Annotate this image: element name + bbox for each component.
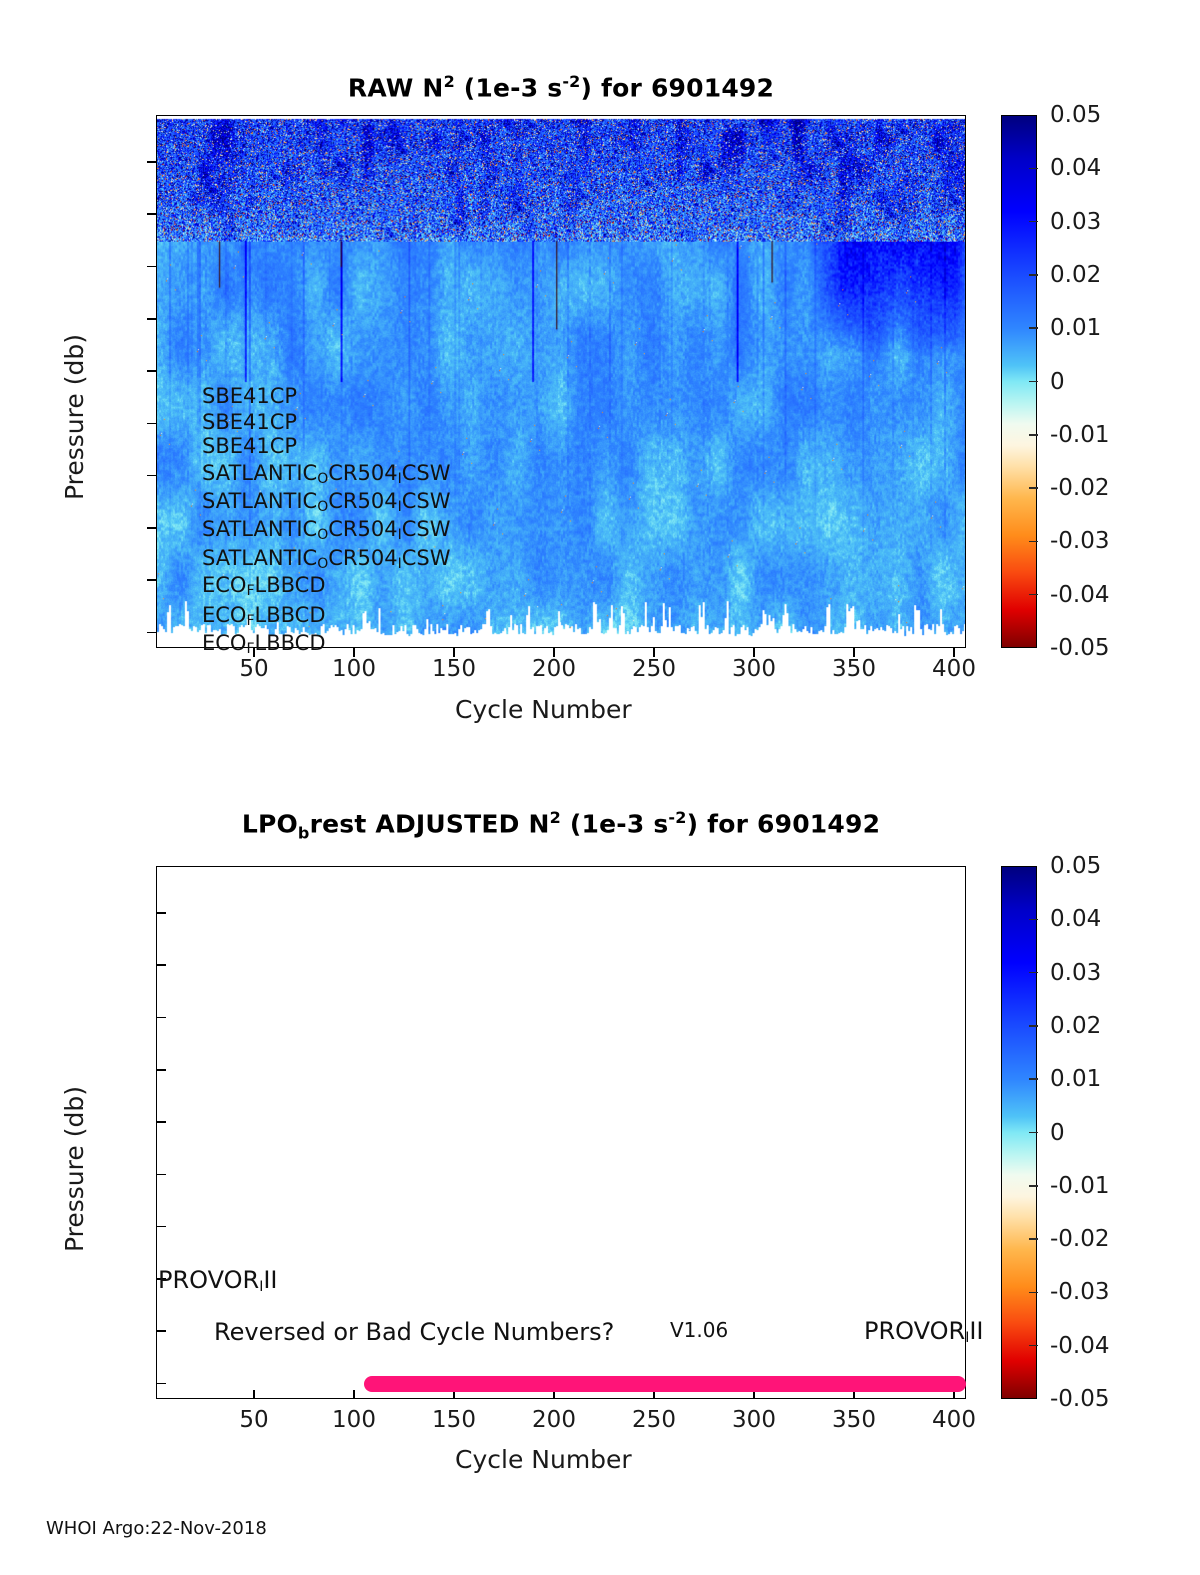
colorbar-tick-label: 0.01 <box>1050 1066 1101 1092</box>
ytick-mark <box>147 632 156 634</box>
colorbar-tick-mark <box>1029 1132 1038 1134</box>
panel1-ylabel: Pressure (db) <box>60 334 89 500</box>
xtick-label: 400 <box>932 1407 976 1433</box>
ytick-mark <box>147 266 156 268</box>
xtick-mark <box>553 648 555 657</box>
xtick-label: 50 <box>239 656 268 682</box>
colorbar-tick-label: 0 <box>1050 1120 1065 1146</box>
xtick-mark <box>953 648 955 657</box>
colorbar-tick-mark <box>1029 972 1038 974</box>
plot-annotation: SATLANTICOCR504ICSW <box>202 546 451 572</box>
plot-annotation: Reversed or Bad Cycle Numbers? <box>214 1318 614 1346</box>
colorbar-tick-label: -0.01 <box>1050 422 1110 448</box>
xtick-label: 250 <box>632 1407 676 1433</box>
xtick-label: 350 <box>832 656 876 682</box>
ytick-mark <box>157 964 166 966</box>
xtick-label: 300 <box>732 656 776 682</box>
xtick-label: 300 <box>732 1407 776 1433</box>
plot-annotation: SBE41CP <box>202 410 297 434</box>
colorbar-tick-label: -0.04 <box>1050 1333 1110 1359</box>
xtick-mark <box>353 1390 355 1399</box>
ytick-mark <box>147 423 156 425</box>
colorbar-tick-label: 0.01 <box>1050 315 1101 341</box>
colorbar-tick-label: -0.05 <box>1050 1386 1110 1412</box>
ytick-mark <box>157 1069 166 1071</box>
plot-annotation: SBE41CP <box>202 434 297 458</box>
xtick-mark <box>653 648 655 657</box>
colorbar-tick-label: 0.04 <box>1050 155 1101 181</box>
xtick-label: 150 <box>432 1407 476 1433</box>
xtick-label: 350 <box>832 1407 876 1433</box>
plot-annotation: V1.06 <box>670 1318 728 1342</box>
colorbar-tick-mark <box>1029 327 1038 329</box>
colorbar-tick-label: 0.03 <box>1050 209 1101 235</box>
panel2-ylabel: Pressure (db) <box>60 1086 89 1252</box>
xtick-label: 200 <box>532 656 576 682</box>
colorbar-tick-label: 0.02 <box>1050 262 1101 288</box>
xtick-label: 250 <box>632 656 676 682</box>
xtick-label: 200 <box>532 1407 576 1433</box>
xtick-mark <box>453 648 455 657</box>
colorbar-tick-mark <box>1029 1292 1038 1294</box>
ytick-mark <box>147 579 156 581</box>
ytick-mark <box>157 1383 166 1385</box>
xtick-label: 100 <box>332 656 376 682</box>
panel2-xlabel: Cycle Number <box>455 1445 632 1474</box>
plot-annotation: SATLANTICOCR504ICSW <box>202 489 451 515</box>
colorbar-tick-mark <box>1029 221 1038 223</box>
colorbar-tick-label: 0.05 <box>1050 853 1101 879</box>
colorbar-tick-label: 0.03 <box>1050 960 1101 986</box>
plot-annotation: ECOFLBBCD <box>202 573 326 599</box>
colorbar-tick-mark <box>1029 1345 1038 1347</box>
colorbar-tick-label: 0.04 <box>1050 906 1101 932</box>
ytick-mark <box>147 318 156 320</box>
colorbar-tick-label: -0.02 <box>1050 1226 1110 1252</box>
colorbar-tick-label: 0 <box>1050 369 1065 395</box>
colorbar-tick-mark <box>1029 434 1038 436</box>
colorbar-tick-mark <box>1029 274 1038 276</box>
ytick-mark <box>157 1174 166 1176</box>
panel1-xlabel: Cycle Number <box>455 695 632 724</box>
colorbar-tick-mark <box>1029 1078 1038 1080</box>
bad-cycle-marker-band <box>364 1376 966 1392</box>
panel2-title: LPObrest ADJUSTED N2 (1e-3 s-2) for 6901… <box>156 808 966 842</box>
xtick-label: 400 <box>932 656 976 682</box>
colorbar-tick-mark <box>1029 487 1038 489</box>
plot-annotation: SATLANTICOCR504ICSW <box>202 461 451 487</box>
plot-annotation: PROVORIII <box>864 1317 983 1346</box>
ytick-mark <box>147 475 156 477</box>
colorbar-tick-label: -0.01 <box>1050 1173 1110 1199</box>
colorbar-tick-mark <box>1029 919 1038 921</box>
xtick-mark <box>853 648 855 657</box>
ytick-mark <box>157 1121 166 1123</box>
ytick-mark <box>157 912 166 914</box>
colorbar-tick-mark <box>1029 1185 1038 1187</box>
xtick-mark <box>353 648 355 657</box>
colorbar-tick-label: -0.04 <box>1050 582 1110 608</box>
xtick-mark <box>753 648 755 657</box>
colorbar-tick-mark <box>1029 541 1038 543</box>
plot-annotation: PROVORIII <box>158 1266 277 1295</box>
xtick-label: 50 <box>239 1407 268 1433</box>
ytick-mark <box>147 213 156 215</box>
ytick-mark <box>157 1226 166 1228</box>
ytick-mark <box>157 1017 166 1019</box>
figure-footer: WHOI Argo:22-Nov-2018 <box>46 1518 267 1539</box>
plot-annotation: SBE41CP <box>202 384 297 408</box>
ytick-mark <box>157 1330 166 1332</box>
panel1-title: RAW N2 (1e-3 s-2) for 6901492 <box>156 72 966 102</box>
xtick-label: 100 <box>332 1407 376 1433</box>
colorbar-tick-mark <box>1029 1238 1038 1240</box>
colorbar-tick-label: 0.05 <box>1050 102 1101 128</box>
colorbar-tick-mark <box>1029 168 1038 170</box>
colorbar-tick-mark <box>1029 1025 1038 1027</box>
xtick-label: 150 <box>432 656 476 682</box>
colorbar-tick-mark <box>1029 381 1038 383</box>
colorbar-tick-label: -0.02 <box>1050 475 1110 501</box>
plot-annotation: SATLANTICOCR504ICSW <box>202 517 451 543</box>
colorbar-tick-label: 0.02 <box>1050 1013 1101 1039</box>
ytick-mark <box>147 527 156 529</box>
ytick-mark <box>147 370 156 372</box>
colorbar-tick-label: -0.05 <box>1050 635 1110 661</box>
plot-annotation: ECOFLBBCD <box>202 603 326 629</box>
colorbar-tick-mark <box>1029 594 1038 596</box>
xtick-mark <box>253 1390 255 1399</box>
plot-annotation: ECOFLBBCD <box>202 631 326 657</box>
colorbar-tick-label: -0.03 <box>1050 1279 1110 1305</box>
colorbar-tick-label: -0.03 <box>1050 528 1110 554</box>
ytick-mark <box>147 161 156 163</box>
